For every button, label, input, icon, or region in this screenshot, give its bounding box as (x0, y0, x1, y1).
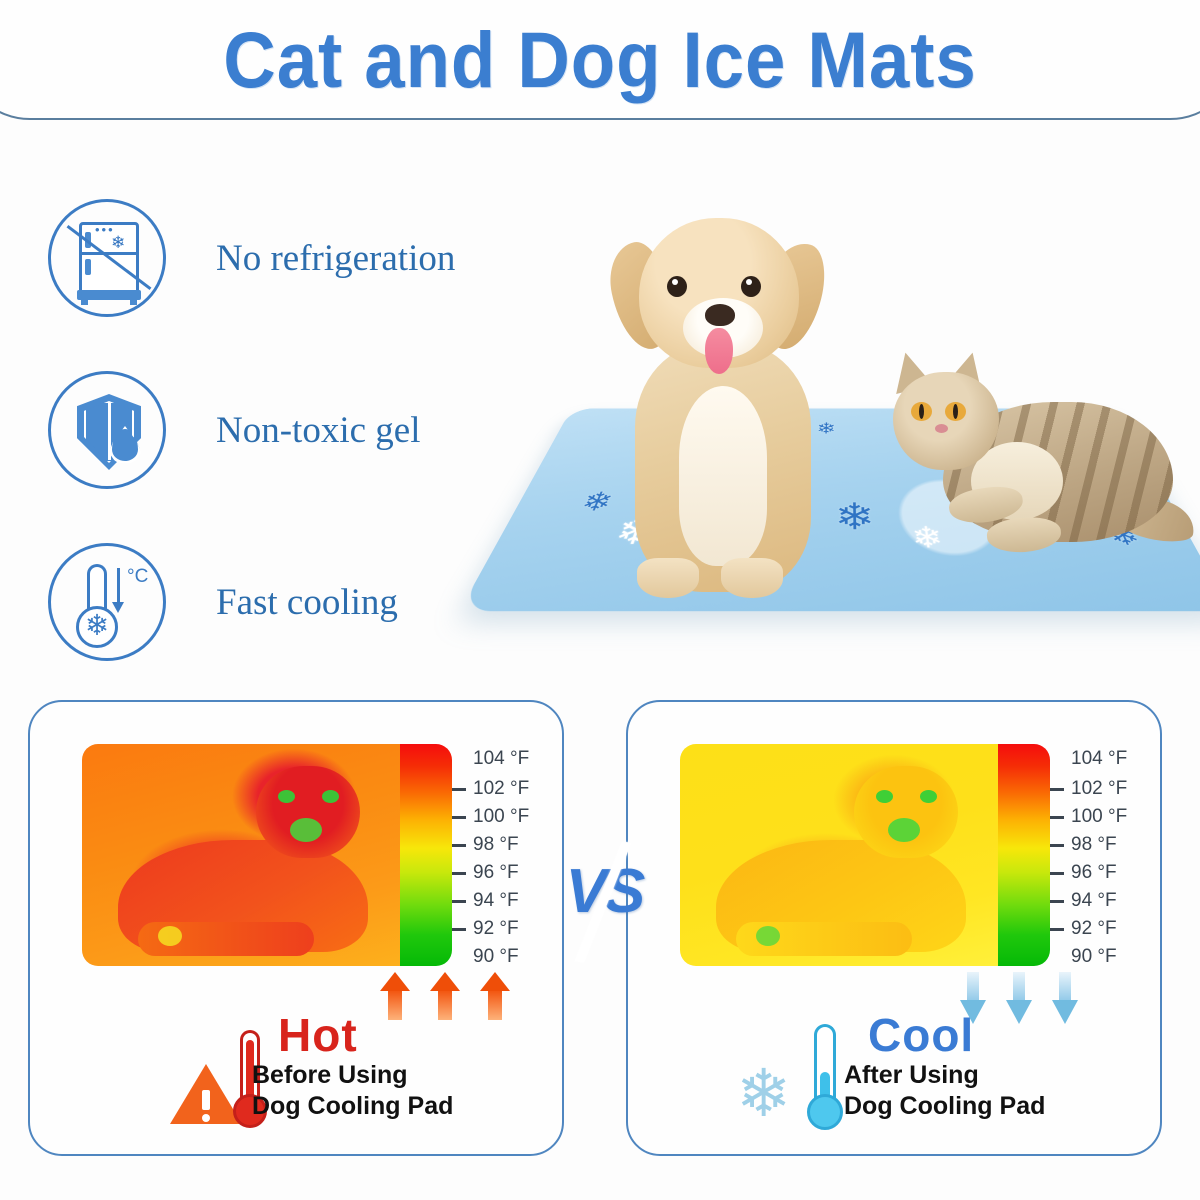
tick-dash (1050, 956, 1064, 959)
tick-row: 94 °F (452, 892, 519, 910)
feature-item-fast-cooling: ❄ °C Fast cooling (48, 516, 518, 688)
thermal-dog-head (854, 766, 958, 858)
hot-label: Hot (278, 1008, 358, 1062)
feature-item-non-toxic-gel: Non-toxic gel (48, 344, 518, 516)
thermal-dog-eye-right (920, 790, 937, 803)
feature-label: Non-toxic gel (216, 409, 420, 452)
no-refrigeration-icon: ••• ❄ (48, 199, 166, 317)
thermal-image-cool-wrap: 104 °F 102 °F 100 °F 98 °F 96 °F 94 °F 9… (680, 744, 1050, 966)
tick-dash (452, 900, 466, 903)
tick-row: 98 °F (1050, 836, 1117, 854)
dog-paw-left (637, 558, 699, 598)
tick-row: 90 °F (1050, 948, 1117, 966)
feature-list: ••• ❄ No refrigeration Non-toxic gel (48, 172, 518, 688)
temperature-colorbar (400, 744, 452, 966)
after-caption: After Using Dog Cooling Pad (844, 1060, 1045, 1122)
warning-exclamation-dot (202, 1114, 210, 1122)
snowflake-icon: ❄ (82, 611, 112, 641)
thermal-dog-hot (82, 744, 400, 966)
warning-exclamation-bar (202, 1090, 210, 1110)
fridge-leg-left (81, 298, 88, 305)
before-caption: Before Using Dog Cooling Pad (252, 1060, 453, 1122)
after-caption-block: ❄ Cool After Using Dog Cooling Pad (628, 1002, 1164, 1152)
tick-dash (1050, 900, 1064, 903)
thermal-dog-paw-spot (756, 926, 780, 946)
fridge-divider (79, 252, 139, 255)
dog-tongue (705, 328, 733, 374)
before-caption-block: Hot Before Using Dog Cooling Pad (30, 1002, 566, 1152)
tick-row: 102 °F (1050, 780, 1127, 798)
comparison-panel-before: 104 °F 102 °F 100 °F 98 °F 96 °F 94 °F 9… (28, 700, 564, 1156)
hero-product-photo: ❄ ❄ ❄ ❄ ❄ ❄ ❄ ❄ ❄ ❄ ❄ (505, 200, 1185, 650)
snowflake-icon: ❄ (736, 1060, 791, 1126)
feature-label: No refrigeration (216, 237, 455, 280)
dog-chest (679, 386, 767, 566)
down-arrow-icon (117, 568, 120, 604)
tick-dash (452, 816, 466, 819)
before-caption-line1: Before Using (252, 1060, 453, 1091)
infographic-page: Cat and Dog Ice Mats ••• ❄ No refrigerat… (0, 0, 1200, 1200)
tick-row: 92 °F (452, 920, 519, 938)
tick-dash (1050, 928, 1064, 931)
tick-dash (452, 956, 466, 959)
tick-row: 94 °F (1050, 892, 1117, 910)
tick-dash (452, 788, 466, 791)
tick-dash (1050, 816, 1064, 819)
tick-row: 96 °F (1050, 864, 1117, 882)
comparison-panel-after: 104 °F 102 °F 100 °F 98 °F 96 °F 94 °F 9… (626, 700, 1162, 1156)
after-caption-line1: After Using (844, 1060, 1045, 1091)
dog-eye-right (741, 276, 761, 297)
dog-photo (593, 218, 843, 618)
dog-eye-left (667, 276, 687, 297)
tick-row: 100 °F (452, 808, 529, 826)
tick-dash (452, 928, 466, 931)
cat-head (893, 372, 999, 470)
tick-dash (1050, 872, 1064, 875)
cat-nose (935, 424, 948, 433)
tick-dash (452, 872, 466, 875)
before-caption-line2: Dog Cooling Pad (252, 1091, 453, 1122)
thermal-image-cool (680, 744, 998, 966)
tick-row: 104 °F (1050, 750, 1127, 768)
fast-cooling-thermometer-icon: ❄ °C (48, 543, 166, 661)
thermal-image-hot-wrap: 104 °F 102 °F 100 °F 98 °F 96 °F 94 °F 9… (82, 744, 452, 966)
snowflake-icon: ❄ (111, 234, 125, 251)
tick-row: 100 °F (1050, 808, 1127, 826)
vs-badge: VS (556, 856, 652, 948)
cat-eye-right (945, 402, 966, 421)
fridge-handle-bottom (85, 259, 91, 275)
cool-label: Cool (868, 1008, 974, 1062)
tick-row: 90 °F (452, 948, 519, 966)
cat-eye-left (911, 402, 932, 421)
tick-row: 96 °F (452, 864, 519, 882)
thermal-dog-snout (290, 818, 322, 842)
page-title: Cat and Dog Ice Mats (48, 14, 1152, 106)
tick-dash (452, 758, 466, 761)
dog-nose (705, 304, 735, 326)
tick-dash (1050, 844, 1064, 847)
thermal-image-hot (82, 744, 400, 966)
celsius-label: °C (127, 566, 148, 588)
tick-row: 92 °F (1050, 920, 1117, 938)
tick-row: 98 °F (452, 836, 519, 854)
temperature-scale-ticks-right: 104 °F 102 °F 100 °F 98 °F 96 °F 94 °F 9… (1050, 744, 1200, 966)
after-caption-line2: Dog Cooling Pad (844, 1091, 1045, 1122)
thermal-dog-eye-right (322, 790, 339, 803)
feature-label: Fast cooling (216, 581, 398, 624)
thermal-dog-cool (680, 744, 998, 966)
temperature-colorbar (998, 744, 1050, 966)
dog-paw-right (721, 558, 783, 598)
fridge-leg-right (130, 298, 137, 305)
tick-dash (1050, 788, 1064, 791)
tick-dash (1050, 758, 1064, 761)
tick-dash (452, 844, 466, 847)
thermal-dog-snout (888, 818, 920, 842)
thermal-dog-eye-left (278, 790, 295, 803)
non-toxic-shield-icon (48, 371, 166, 489)
blue-thermometer-bulb (807, 1094, 843, 1130)
thermal-dog-paw-spot (158, 926, 182, 946)
thermal-dog-head (256, 766, 360, 858)
tick-row: 104 °F (452, 750, 529, 768)
cat-photo (875, 350, 1185, 600)
feature-item-no-refrigeration: ••• ❄ No refrigeration (48, 172, 518, 344)
tick-row: 102 °F (452, 780, 529, 798)
thermal-dog-eye-left (876, 790, 893, 803)
